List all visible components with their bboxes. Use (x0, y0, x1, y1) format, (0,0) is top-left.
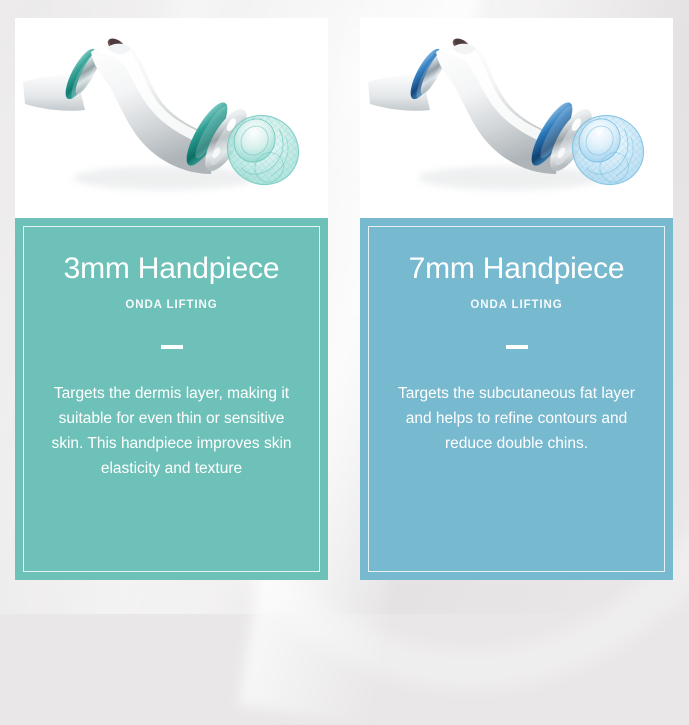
card-subtitle: ONDA LIFTING (41, 299, 302, 311)
product-card-7mm[interactable]: 7mm Handpiece ONDA LIFTING Targets the s… (360, 18, 673, 580)
page-title: 7mm Handpiece (386, 252, 647, 285)
page-title: 3mm Handpiece (41, 252, 302, 285)
product-photo-3mm (15, 18, 328, 218)
card-description: Targets the subcutaneous fat layer and h… (386, 381, 647, 456)
divider-dash (506, 345, 528, 349)
product-photo-7mm (360, 18, 673, 218)
card-description: Targets the dermis layer, making it suit… (41, 381, 302, 481)
product-card-3mm[interactable]: 3mm Handpiece ONDA LIFTING Targets the d… (15, 18, 328, 580)
handpiece-illustration-7mm (360, 18, 673, 218)
card-subtitle: ONDA LIFTING (386, 299, 647, 311)
divider-dash (161, 345, 183, 349)
product-info-panel-7mm: 7mm Handpiece ONDA LIFTING Targets the s… (360, 218, 673, 580)
handpiece-illustration-3mm (15, 18, 328, 218)
product-info-panel-3mm: 3mm Handpiece ONDA LIFTING Targets the d… (15, 218, 328, 580)
